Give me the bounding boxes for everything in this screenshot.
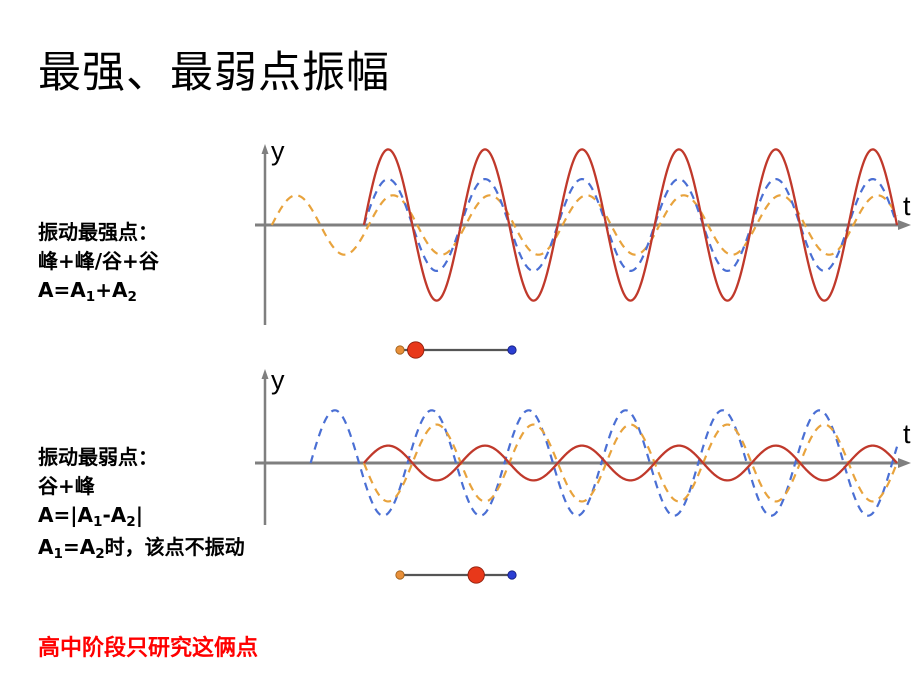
t-axis-arrow-bottom: [898, 458, 911, 468]
formula-sub-2: 2: [127, 289, 136, 305]
t-axis-arrow-top: [898, 220, 911, 230]
graph-bottom-svg: [255, 365, 921, 525]
y-axis-label-bottom: y: [271, 367, 285, 394]
slider-bottom-svg[interactable]: [392, 563, 520, 587]
y-axis-arrow-top: [262, 144, 269, 154]
note-sub-1: 1: [53, 546, 62, 562]
weak-point-heading: 振动最弱点：: [38, 443, 245, 472]
formula-prefix: A=A: [38, 278, 86, 302]
note-sub-2: 2: [95, 546, 104, 562]
strong-point-formula: A=A1+A2: [38, 276, 159, 308]
slider-top-svg[interactable]: [392, 338, 520, 362]
strong-point-condition: 峰+峰/谷+谷: [38, 247, 159, 276]
bottom-note-red: 高中阶段只研究这俩点: [38, 630, 258, 662]
formula-sub-2: 2: [126, 514, 135, 530]
weak-point-text-block: 振动最弱点： 谷+峰 A=|A1-A2| A1=A2时，该点不振动: [38, 443, 245, 565]
formula-mid: +A: [95, 278, 127, 302]
y-axis-arrow-bottom: [262, 369, 269, 379]
amplitude-slider-bottom[interactable]: [392, 563, 520, 587]
weak-point-condition: 谷+峰: [38, 472, 245, 501]
slider-min-dot-bottom[interactable]: [396, 571, 404, 579]
slider-max-dot-top[interactable]: [508, 346, 516, 354]
t-axis-label-bottom: t: [903, 421, 911, 448]
slider-knob-top[interactable]: [408, 342, 424, 358]
formula-prefix: A=|A: [38, 503, 93, 527]
constructive-interference-graph: y t: [255, 140, 921, 325]
destructive-interference-graph: y t: [255, 365, 921, 525]
graph-top-svg: [255, 140, 921, 325]
strong-point-heading: 振动最强点：: [38, 218, 159, 247]
formula-sub-1: 1: [93, 514, 102, 530]
page-title: 最强、最弱点振幅: [38, 45, 390, 101]
strong-point-text-block: 振动最强点： 峰+峰/谷+谷 A=A1+A2: [38, 218, 159, 308]
amplitude-slider-top[interactable]: [392, 338, 520, 362]
formula-sub-1: 1: [86, 289, 95, 305]
note-suffix: 时，该点不振动: [105, 535, 245, 559]
weak-point-note: A1=A2时，该点不振动: [38, 533, 245, 565]
slide-canvas: 最强、最弱点振幅 振动最强点： 峰+峰/谷+谷 A=A1+A2 振动最弱点： 谷…: [0, 0, 921, 685]
slider-knob-bottom[interactable]: [468, 567, 484, 583]
formula-suffix: |: [136, 503, 143, 527]
slider-min-dot-top[interactable]: [396, 346, 404, 354]
formula-mid: -A: [103, 503, 127, 527]
t-axis-label-top: t: [903, 193, 911, 220]
note-prefix: A: [38, 535, 53, 559]
y-axis-label-top: y: [271, 138, 285, 165]
note-mid: =A: [63, 535, 95, 559]
weak-point-formula: A=|A1-A2|: [38, 501, 245, 533]
slider-max-dot-bottom[interactable]: [508, 571, 516, 579]
